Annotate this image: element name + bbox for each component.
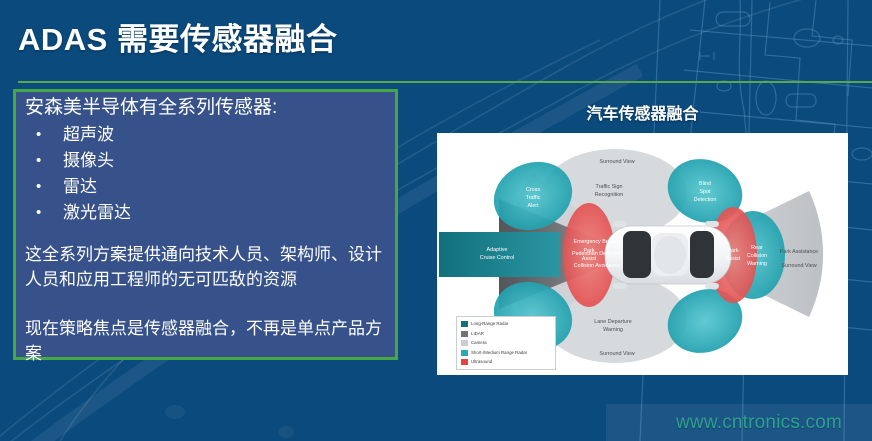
- diagram-label-group-cone: Emergency Braking Pedestrian Detection C…: [572, 239, 622, 269]
- bullet-icon: •: [36, 148, 41, 174]
- bullet-icon: •: [36, 174, 41, 200]
- list-item-label: 激光雷达: [63, 203, 131, 222]
- legend-swatch-camera: [461, 340, 468, 346]
- list-item-label: 摄像头: [63, 151, 114, 170]
- svg-text:Alert: Alert: [527, 203, 539, 209]
- bullet-icon: •: [36, 200, 41, 226]
- legend-label: Camera: [471, 340, 487, 346]
- list-item: • 雷达: [25, 174, 386, 200]
- sensor-portfolio-content: 安森美半导体有全系列传感器: • 超声波 • 摄像头 • 雷达 • 激光雷达 这…: [13, 89, 398, 366]
- svg-text:Surround View: Surround View: [599, 351, 634, 357]
- legend-swatch-long-range-radar: [461, 321, 468, 327]
- legend-label: Long-Range Radar: [471, 321, 508, 327]
- svg-text:Collision: Collision: [747, 253, 767, 259]
- portfolio-paragraph-1: 这全系列方案提供通向技术人员、架构师、设计人员和应用工程师的无可匹敌的资源: [25, 242, 386, 292]
- legend-swatch-short-medium-range-radar: [461, 350, 468, 356]
- slide-root: ADAS 需要传感器融合 安森美半导体有全系列传感器: • 超声波 • 摄像头 …: [0, 0, 872, 441]
- svg-text:Surround View: Surround View: [781, 263, 816, 269]
- svg-text:Collision Avoidance: Collision Avoidance: [574, 263, 621, 269]
- car-illustration: [605, 221, 731, 289]
- bullet-icon: •: [36, 122, 41, 148]
- svg-text:Traffic: Traffic: [526, 195, 541, 201]
- svg-text:Assist: Assist: [726, 256, 741, 262]
- legend-label: Ultrasound: [471, 359, 492, 365]
- portfolio-heading: 安森美半导体有全系列传感器:: [25, 95, 386, 121]
- svg-text:Cruise Control: Cruise Control: [480, 255, 514, 261]
- diagram-title: 汽车传感器融合: [437, 100, 848, 124]
- svg-text:Blind: Blind: [699, 181, 711, 187]
- svg-text:Adaptive: Adaptive: [487, 247, 508, 253]
- sensor-fusion-diagram-panel: Adaptive Cruise Control Cross Traffic Al…: [437, 133, 848, 375]
- svg-text:Pedestrian Detection: Pedestrian Detection: [572, 251, 622, 257]
- list-item: • 摄像头: [25, 148, 386, 174]
- svg-text:Detection: Detection: [694, 197, 717, 203]
- title-divider: [18, 81, 872, 83]
- page-title: ADAS 需要传感器融合: [18, 14, 337, 59]
- list-item: • 激光雷达: [25, 200, 386, 226]
- list-item-label: 超声波: [63, 125, 114, 144]
- svg-text:Lane Departure: Lane Departure: [594, 319, 631, 325]
- svg-text:Recognition: Recognition: [595, 192, 623, 198]
- legend-label: LIDAR: [471, 331, 484, 337]
- portfolio-paragraph-2: 现在策略焦点是传感器融合，不再是单点产品方案: [25, 316, 386, 366]
- svg-text:Spot: Spot: [699, 189, 711, 195]
- svg-text:Traffic Sign: Traffic Sign: [596, 184, 623, 190]
- svg-text:Rear: Rear: [751, 245, 763, 251]
- diagram-legend: Long-Range Radar LIDAR Camera Short-/Med…: [456, 316, 556, 370]
- list-item-label: 雷达: [63, 177, 97, 196]
- svg-text:Warning: Warning: [747, 261, 767, 267]
- svg-text:Park: Park: [727, 248, 738, 254]
- legend-swatch-lidar: [461, 331, 468, 337]
- svg-text:Emergency Braking: Emergency Braking: [573, 239, 620, 245]
- svg-text:Park Assistance: Park Assistance: [780, 249, 818, 255]
- legend-item: Short-/Medium Range Radar: [461, 349, 552, 357]
- legend-item: LIDAR: [461, 330, 552, 338]
- svg-text:Cross: Cross: [526, 187, 540, 193]
- legend-item: Ultrasound: [461, 358, 552, 366]
- legend-item: Camera: [461, 339, 552, 347]
- legend-item: Long-Range Radar: [461, 320, 552, 328]
- svg-text:Surround View: Surround View: [599, 159, 634, 165]
- list-item: • 超声波: [25, 122, 386, 148]
- svg-text:Warning: Warning: [603, 327, 623, 333]
- watermark-text: www.cntronics.com: [676, 412, 842, 434]
- legend-swatch-ultrasound: [461, 359, 468, 365]
- sensor-list: • 超声波 • 摄像头 • 雷达 • 激光雷达: [25, 122, 386, 226]
- legend-label: Short-/Medium Range Radar: [471, 350, 527, 356]
